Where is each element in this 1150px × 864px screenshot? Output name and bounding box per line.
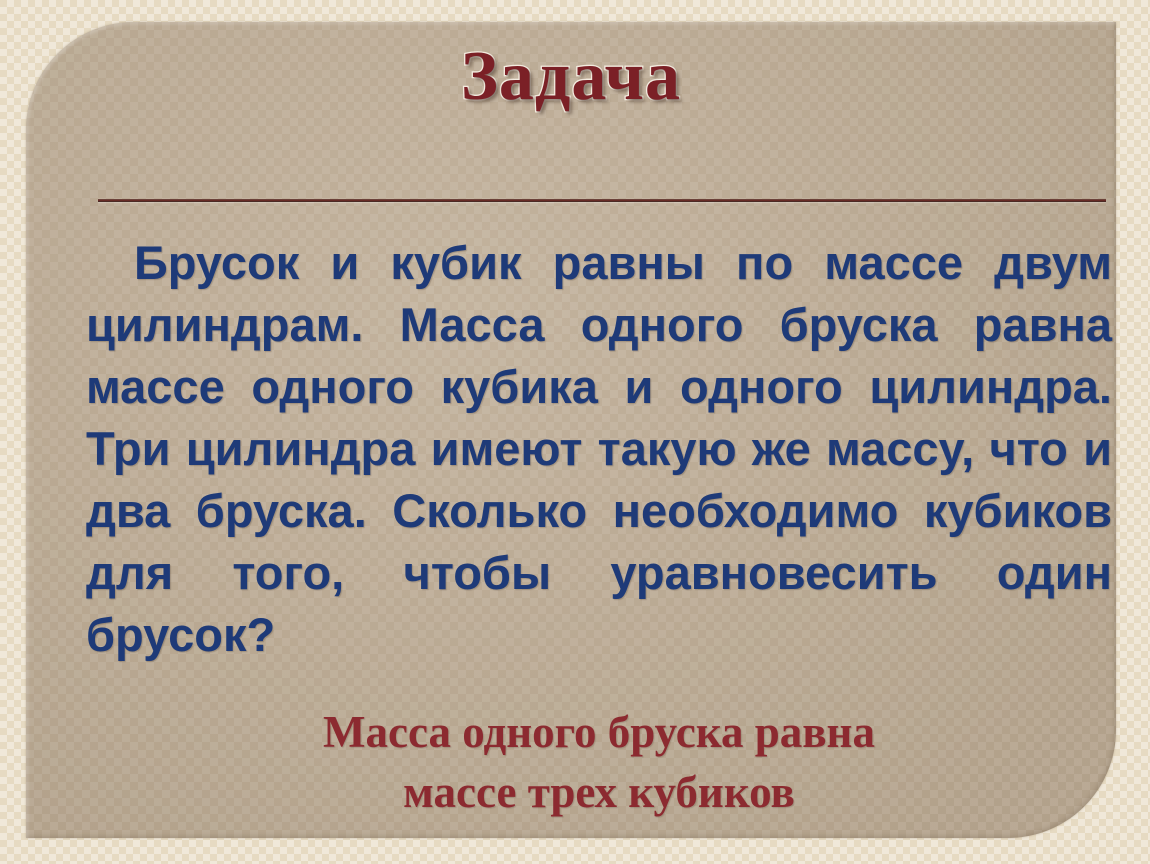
slide-content-panel: Задача Брусок и кубик равны по массе дву… <box>26 22 1116 838</box>
slide-root: Задача Брусок и кубик равны по массе дву… <box>0 0 1150 864</box>
answer-line-2: массе трех кубиков <box>86 762 1112 822</box>
answer-line-1: Масса одного бруска равна <box>86 702 1112 762</box>
problem-statement: Брусок и кубик равны по массе двум цилин… <box>86 232 1112 728</box>
answer-block: Масса одного бруска равна массе трех куб… <box>86 702 1112 822</box>
page-title: Задача <box>461 34 681 120</box>
body-text-block: Брусок и кубик равны по массе двум цилин… <box>86 232 1112 728</box>
title-row: Задача <box>26 34 1116 120</box>
title-divider <box>98 199 1106 202</box>
